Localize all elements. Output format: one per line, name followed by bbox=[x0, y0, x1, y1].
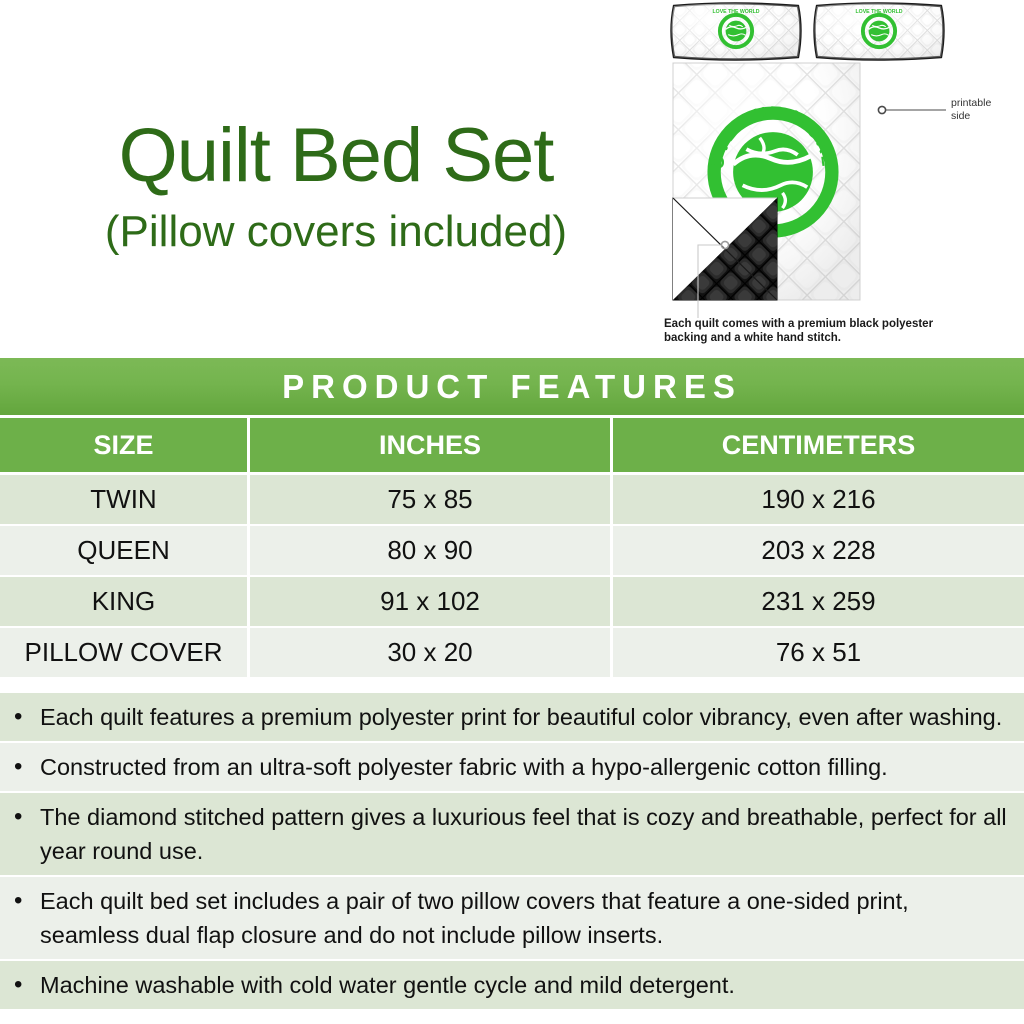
cell-inches: 75 x 85 bbox=[250, 475, 613, 526]
cell-size: PILLOW COVER bbox=[0, 628, 250, 679]
pillow-right: LOVE THE WORLD bbox=[810, 0, 960, 64]
column-header-size: SIZE bbox=[0, 418, 250, 472]
svg-text:LOVE THE WORLD: LOVE THE WORLD bbox=[856, 9, 903, 15]
list-item-text: The diamond stitched pattern gives a lux… bbox=[40, 800, 1012, 868]
list-item: • The diamond stitched pattern gives a l… bbox=[0, 793, 1024, 877]
table-row: KING 91 x 102 231 x 259 bbox=[0, 577, 1024, 628]
bullet-icon: • bbox=[14, 700, 40, 734]
cell-centimeters: 231 x 259 bbox=[613, 577, 1024, 628]
cell-inches: 91 x 102 bbox=[250, 577, 613, 628]
column-header-inches: INCHES bbox=[250, 418, 613, 472]
list-item: • Constructed from an ultra-soft polyest… bbox=[0, 743, 1024, 793]
cell-centimeters: 190 x 216 bbox=[613, 475, 1024, 526]
product-illustration: LOVE THE WORLD LOVE THE WORLD bbox=[660, 0, 1024, 358]
list-item: • Machine washable with cold water gentl… bbox=[0, 961, 1024, 1011]
list-item-text: Each quilt bed set includes a pair of tw… bbox=[40, 884, 1012, 952]
table-header-row: SIZE INCHES CENTIMETERS bbox=[0, 418, 1024, 475]
svg-text:LOVE THE WORLD: LOVE THE WORLD bbox=[713, 9, 760, 15]
table-row: QUEEN 80 x 90 203 x 228 bbox=[0, 526, 1024, 577]
features-bullet-list: • Each quilt features a premium polyeste… bbox=[0, 693, 1024, 1011]
bullet-icon: • bbox=[14, 750, 40, 784]
header-section: Quilt Bed Set (Pillow covers included) bbox=[0, 0, 1024, 358]
annotation-printable-line2: side bbox=[951, 110, 970, 122]
list-item-text: Constructed from an ultra-soft polyester… bbox=[40, 750, 1012, 784]
cell-size: KING bbox=[0, 577, 250, 628]
bullet-icon: • bbox=[14, 968, 40, 1002]
list-item: • Each quilt bed set includes a pair of … bbox=[0, 877, 1024, 961]
product-caption-line1: Each quilt comes with a premium black po… bbox=[664, 318, 934, 330]
bullet-icon: • bbox=[14, 800, 40, 868]
annotation-printable-line1: printable bbox=[951, 97, 991, 109]
product-features-table: PRODUCT FEATURES SIZE INCHES CENTIMETERS… bbox=[0, 358, 1024, 679]
annotation-printable-side: printable side bbox=[878, 97, 991, 122]
cell-centimeters: 203 x 228 bbox=[613, 526, 1024, 577]
list-item-text: Each quilt features a premium polyester … bbox=[40, 700, 1012, 734]
cell-centimeters: 76 x 51 bbox=[613, 628, 1024, 679]
bullet-icon: • bbox=[14, 884, 40, 952]
list-item-text: Machine washable with cold water gentle … bbox=[40, 968, 1012, 1002]
page-title: Quilt Bed Set bbox=[0, 118, 672, 194]
product-caption-line2: backing and a white hand stitch. bbox=[664, 332, 841, 344]
quilt-body: LOVE THE WORLD bbox=[673, 63, 860, 300]
cell-size: TWIN bbox=[0, 475, 250, 526]
table-banner: PRODUCT FEATURES bbox=[0, 358, 1024, 418]
table-row: PILLOW COVER 30 x 20 76 x 51 bbox=[0, 628, 1024, 679]
cell-size: QUEEN bbox=[0, 526, 250, 577]
column-header-centimeters: CENTIMETERS bbox=[613, 418, 1024, 472]
page-subtitle: (Pillow covers included) bbox=[0, 210, 672, 254]
list-item: • Each quilt features a premium polyeste… bbox=[0, 693, 1024, 743]
cell-inches: 30 x 20 bbox=[250, 628, 613, 679]
table-row: TWIN 75 x 85 190 x 216 bbox=[0, 475, 1024, 526]
pillow-left: LOVE THE WORLD bbox=[660, 0, 810, 64]
title-block: Quilt Bed Set (Pillow covers included) bbox=[0, 118, 672, 254]
cell-inches: 80 x 90 bbox=[250, 526, 613, 577]
